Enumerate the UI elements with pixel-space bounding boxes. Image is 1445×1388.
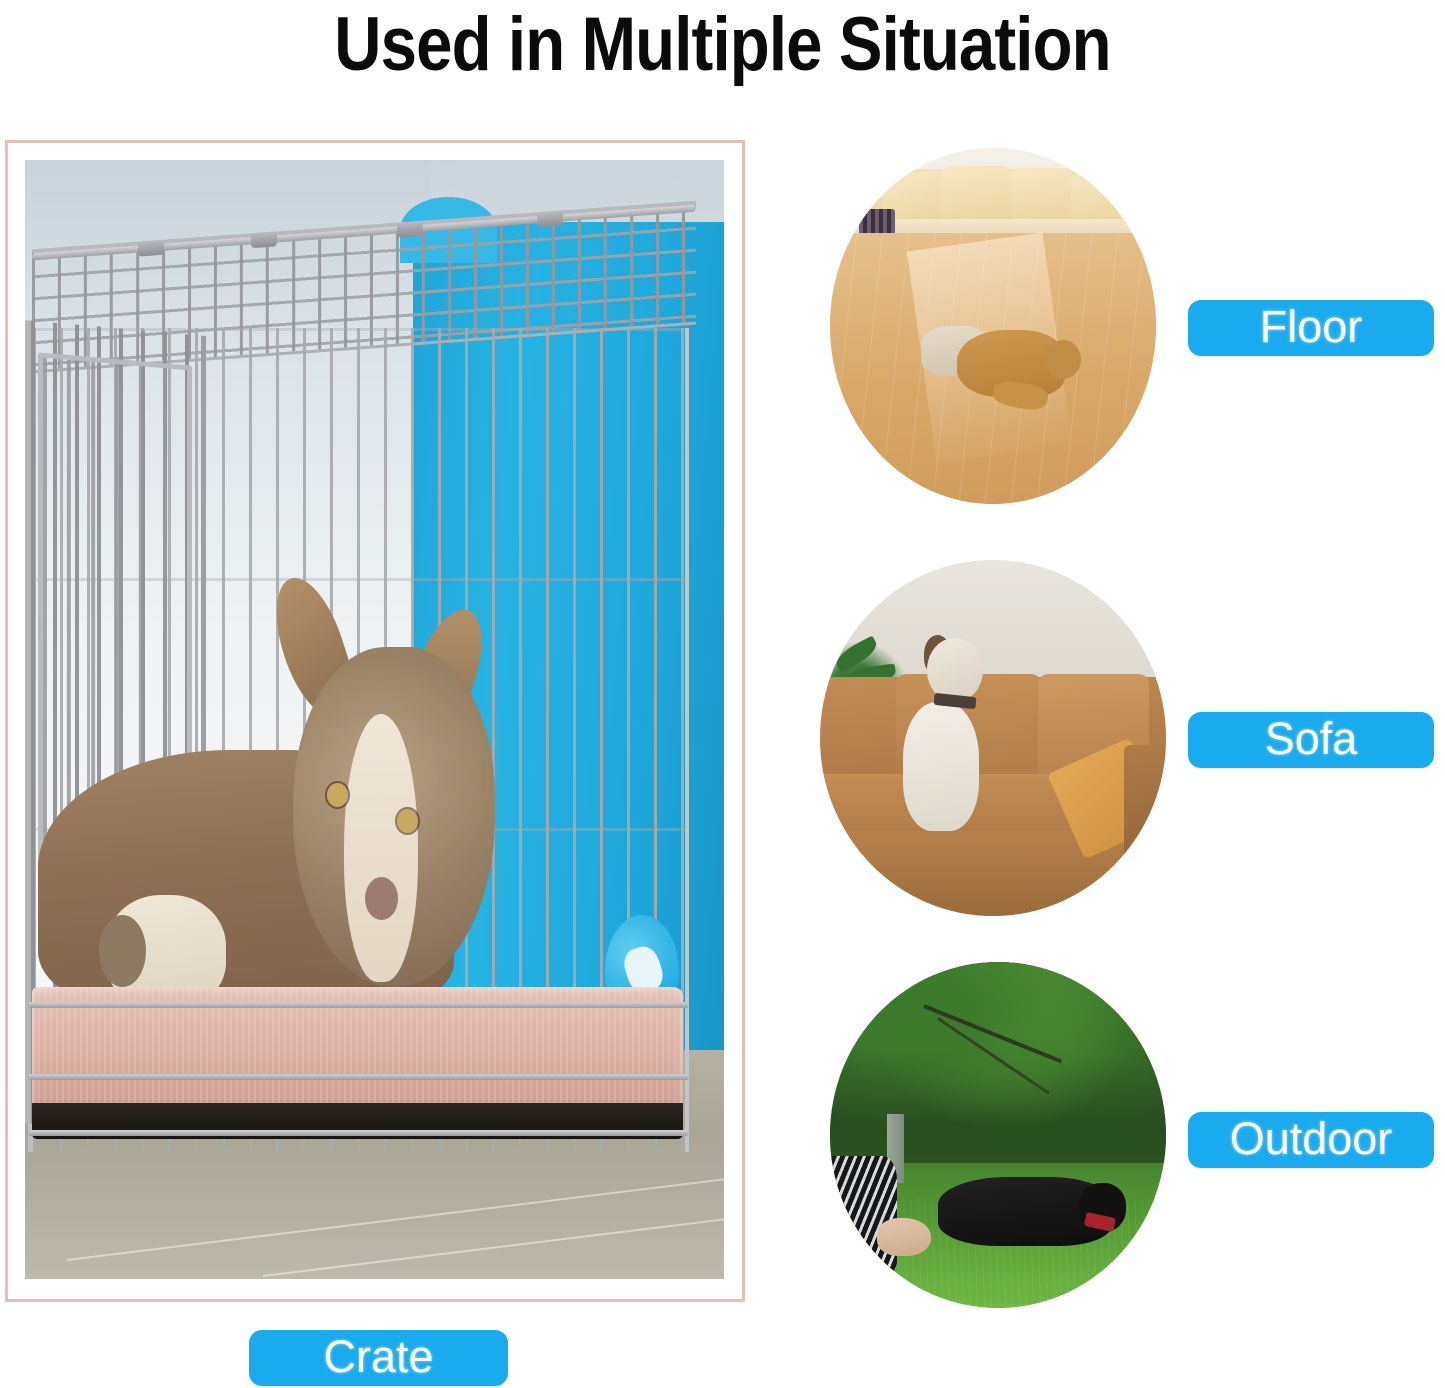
crate-horizontal-bar bbox=[28, 1074, 689, 1080]
outdoor-scene bbox=[830, 962, 1166, 1308]
crate-top-rail bbox=[32, 205, 696, 261]
situation-image-floor bbox=[830, 148, 1156, 504]
crate-clip-icon bbox=[537, 211, 563, 228]
situation-label-sofa: Sofa bbox=[1188, 712, 1434, 768]
crate-photo bbox=[25, 160, 724, 1279]
situation-image-outdoor bbox=[830, 962, 1166, 1308]
dog-nose bbox=[365, 877, 399, 920]
crate-photo-frame bbox=[5, 140, 745, 1302]
crate-clip-icon bbox=[251, 232, 277, 249]
crate-horizontal-bar bbox=[28, 1130, 689, 1136]
sofa-scene-dog-body bbox=[903, 702, 979, 830]
outdoor-scene-person bbox=[830, 1156, 897, 1274]
page-title: Used in Multiple Situation bbox=[101, 2, 1344, 88]
crate-clip-icon bbox=[138, 240, 164, 257]
plush-toy-ear bbox=[99, 915, 146, 987]
dog-face-blaze bbox=[344, 714, 418, 982]
situation-image-sofa bbox=[820, 560, 1166, 916]
sofa-scene-armrest bbox=[1124, 745, 1166, 873]
outdoor-scene-trees bbox=[830, 962, 1166, 1163]
situation-label-outdoor: Outdoor bbox=[1188, 1112, 1434, 1168]
dog-eye-right bbox=[397, 809, 418, 833]
floor-scene-cushion bbox=[941, 166, 1013, 223]
floor-scene-cushion bbox=[1071, 173, 1136, 223]
crate-horizontal-bar bbox=[28, 1002, 689, 1008]
mat-texture bbox=[32, 987, 683, 1126]
floor-scene bbox=[830, 148, 1156, 504]
sofa-scene bbox=[820, 560, 1166, 916]
situation-label-floor: Floor bbox=[1188, 300, 1434, 356]
pink-plush-mat bbox=[32, 987, 683, 1126]
dog-eye-left bbox=[327, 783, 348, 807]
situation-label-crate: Crate bbox=[249, 1330, 508, 1386]
outdoor-scene-hand bbox=[877, 1218, 931, 1256]
crate-clip-icon bbox=[397, 221, 423, 238]
wire-crate bbox=[25, 205, 696, 1234]
